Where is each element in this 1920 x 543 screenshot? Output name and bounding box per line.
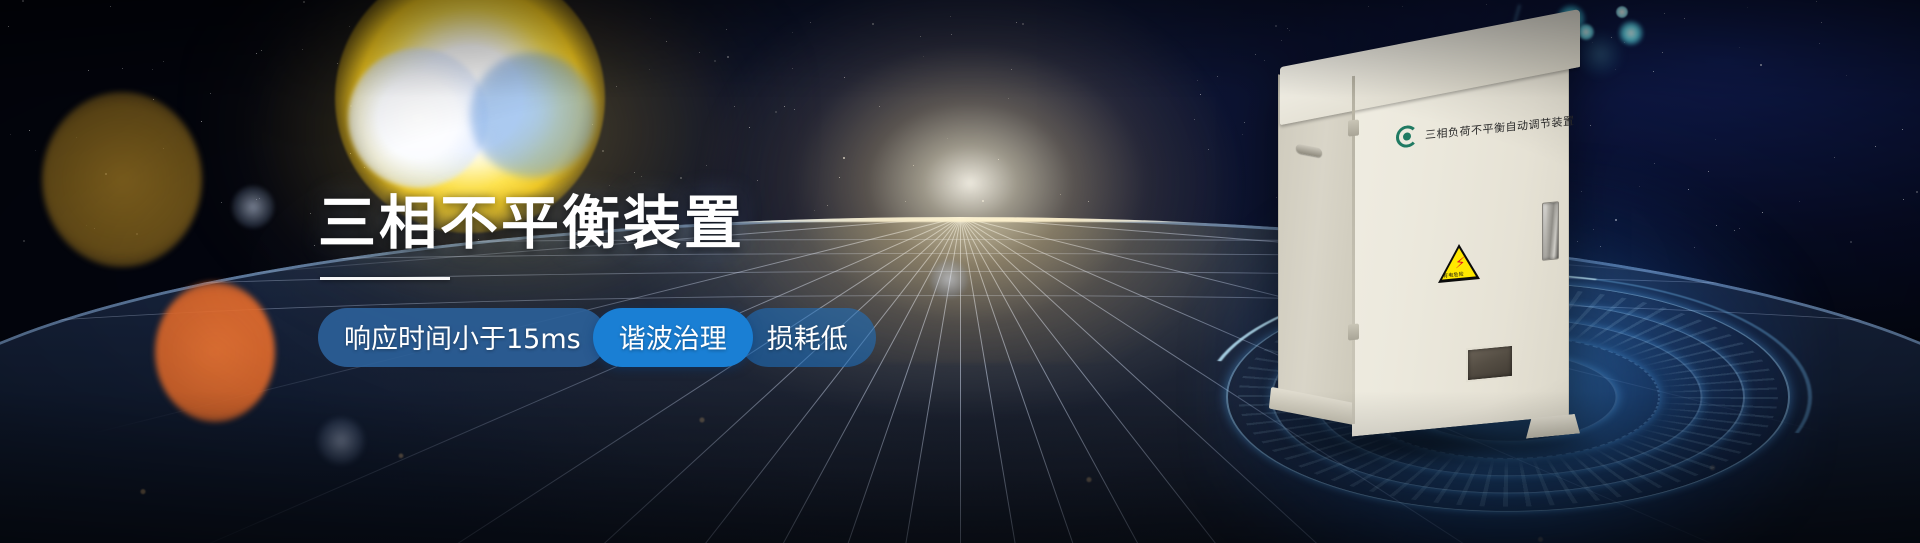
feature-pill-response-time[interactable]: 响应时间小于15ms [318, 308, 607, 367]
vent-louver-icon [1466, 344, 1514, 383]
sparkle-cyan-4 [1616, 6, 1628, 18]
green-swirl-logo-icon [1396, 124, 1418, 148]
banner-headline: 三相不平衡装置 [318, 192, 938, 255]
bokeh-dim-a [232, 186, 274, 228]
bokeh-dim-c [318, 418, 364, 464]
lightning-bolt-icon: ⚡ [1455, 255, 1466, 271]
cabinet-side-panel [1278, 74, 1357, 419]
bokeh-white [348, 48, 488, 188]
feature-pill-group: 响应时间小于15ms 谐波治理 损耗低 [318, 308, 938, 367]
bokeh-amber [42, 92, 202, 267]
warning-sign-text: 有电危险 [1443, 271, 1464, 280]
high-voltage-icon: ⚡ 有电危险 [1438, 242, 1480, 283]
headline-divider [320, 277, 450, 280]
bokeh-blue [470, 52, 596, 178]
feature-pill-low-loss[interactable]: 损耗低 [739, 308, 876, 367]
product-cabinet: 三相负荷不平衡自动调节装置 ⚡ 有电危险 [1290, 24, 1620, 444]
feature-pill-harmonic-treatment[interactable]: 谐波治理 [593, 308, 753, 367]
hero-banner: 三相负荷不平衡自动调节装置 ⚡ 有电危险 三相不平衡装置 响应时间小于15ms … [0, 0, 1920, 543]
cabinet-hinge-bottom [1348, 323, 1359, 340]
cabinet-hinge-top [1348, 119, 1359, 136]
sparkle-cyan-3 [1618, 20, 1644, 46]
banner-text-block: 三相不平衡装置 响应时间小于15ms 谐波治理 损耗低 [318, 192, 938, 367]
door-handle-icon [1542, 201, 1559, 261]
bokeh-orange [155, 282, 275, 422]
